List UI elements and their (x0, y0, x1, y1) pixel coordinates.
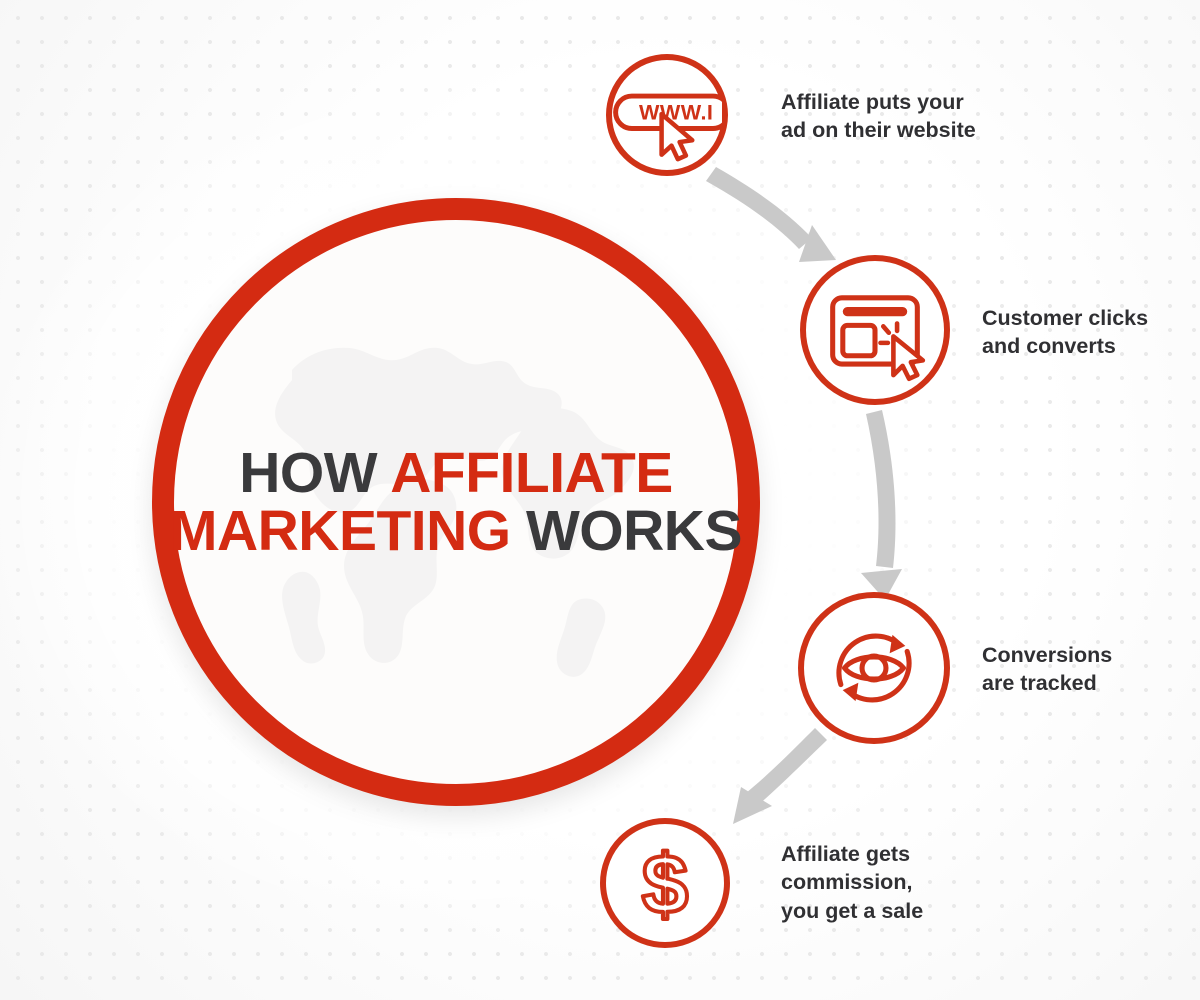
hero-title-marketing: MARKETING (170, 499, 511, 563)
svg-text:$: $ (642, 837, 688, 931)
url-address-bar-cursor-icon: WWW.I (612, 60, 722, 170)
hero-title-line-2: MARKETING WORKS (170, 502, 742, 560)
step-1-circle[interactable]: WWW.I (606, 54, 728, 176)
step-4-circle[interactable]: $ (600, 818, 730, 948)
step-3-circle[interactable] (798, 592, 950, 744)
infographic-canvas: HOW AFFILIATE MARKETING WORKS (0, 0, 1200, 1000)
hero-title-line-1: HOW AFFILIATE (239, 444, 673, 502)
browser-window-click-cursor-icon (806, 261, 944, 399)
step-4-label: Affiliate gets commission, you get a sal… (781, 840, 1011, 925)
step-2-circle[interactable] (800, 255, 950, 405)
url-bar-text: WWW.I (639, 100, 713, 125)
hero-title: HOW AFFILIATE MARKETING WORKS (152, 198, 760, 806)
dollar-sign-icon: $ (606, 824, 724, 942)
hero-title-affiliate: AFFILIATE (390, 441, 673, 505)
hero-circle: HOW AFFILIATE MARKETING WORKS (152, 198, 760, 806)
step-3-label: Conversions are tracked (982, 641, 1192, 698)
eye-refresh-tracking-icon (804, 598, 944, 738)
step-1-label: Affiliate puts your ad on their website (781, 88, 1031, 145)
arrow-step2-to-step3 (861, 410, 902, 600)
step-2-label: Customer clicks and converts (982, 304, 1200, 361)
hero-title-works: WORKS (511, 499, 742, 563)
hero-title-how: HOW (239, 441, 390, 505)
